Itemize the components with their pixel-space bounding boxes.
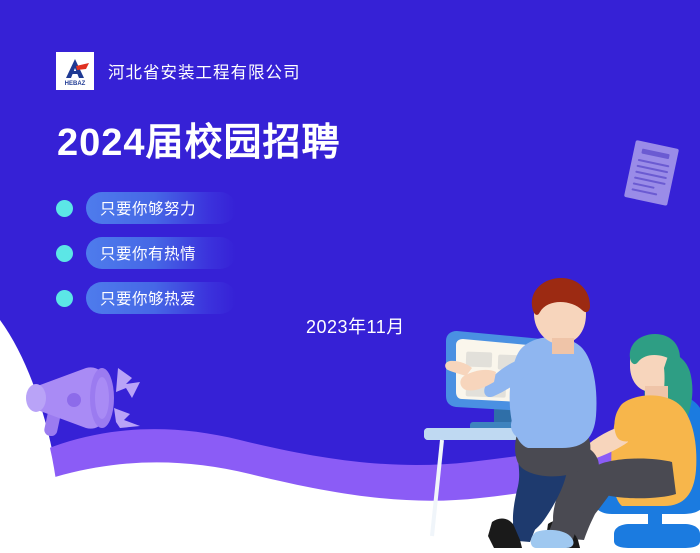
slogan-pill: 只要你够努力	[86, 192, 236, 224]
slogan-label: 只要你有热情	[100, 242, 196, 264]
recruitment-poster: HEBAZ 河北省安装工程有限公司 2024届校园招聘 只要你够努力 只要你有热…	[0, 0, 700, 553]
poster-header: HEBAZ 河北省安装工程有限公司	[56, 52, 301, 90]
slogan-pill: 只要你够热爱	[86, 282, 236, 314]
svg-text:HEBAZ: HEBAZ	[65, 81, 86, 87]
list-item: 只要你够努力	[56, 192, 236, 224]
slogan-pill: 只要你有热情	[86, 237, 236, 269]
poster-date: 2023年11月	[306, 313, 405, 339]
list-item: 只要你够热爱	[56, 282, 236, 314]
bullet-dot-icon	[56, 200, 73, 217]
list-item: 只要你有热情	[56, 237, 236, 269]
hebaz-logo-icon: HEBAZ	[56, 52, 94, 90]
slogan-label: 只要你够努力	[100, 197, 196, 219]
bullet-dot-icon	[56, 245, 73, 262]
company-name: 河北省安装工程有限公司	[108, 59, 301, 83]
slogan-label: 只要你够热爱	[100, 287, 196, 309]
page-title: 2024届校园招聘	[57, 123, 341, 165]
bullet-dot-icon	[56, 290, 73, 307]
slogan-list: 只要你够努力 只要你有热情 只要你够热爱	[56, 192, 236, 314]
